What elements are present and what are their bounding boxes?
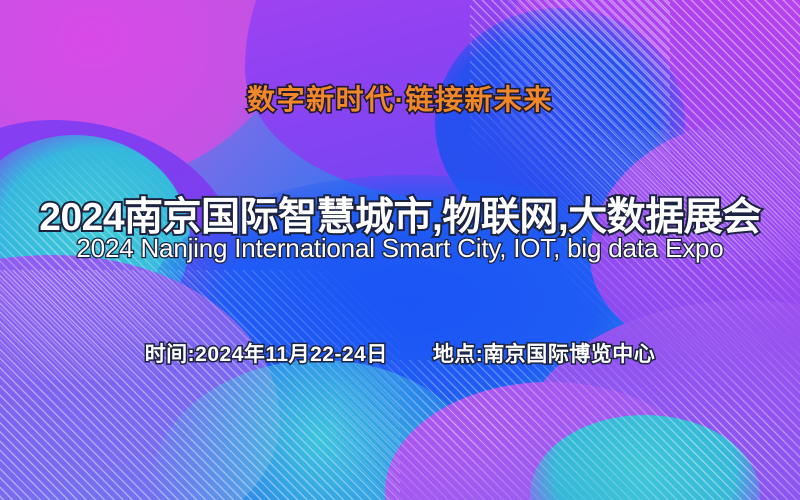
poster-venue-info: 地点:南京国际博览中心 xyxy=(433,338,656,368)
poster-info-row: 时间:2024年11月22-24日 地点:南京国际博览中心 xyxy=(0,338,800,368)
event-poster: 数字新时代·链接新未来 2024南京国际智慧城市,物联网,大数据展会 2024 … xyxy=(0,0,800,500)
poster-content: 数字新时代·链接新未来 2024南京国际智慧城市,物联网,大数据展会 2024 … xyxy=(0,0,800,500)
poster-title-english: 2024 Nanjing International Smart City, I… xyxy=(0,233,800,264)
poster-date-info: 时间:2024年11月22-24日 xyxy=(145,338,388,368)
poster-headline-slogan: 数字新时代·链接新未来 xyxy=(0,78,800,118)
